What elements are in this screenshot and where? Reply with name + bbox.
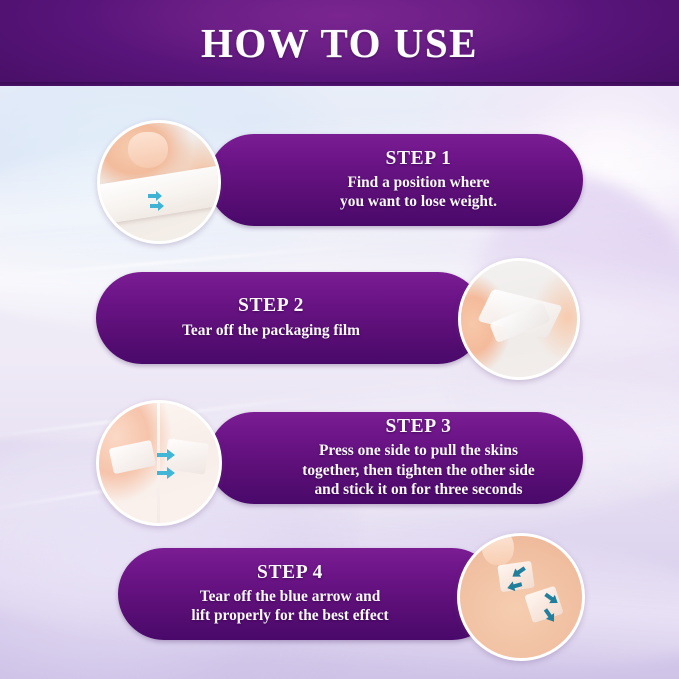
fingertip-shape xyxy=(482,533,514,565)
step-1-text-block: STEP 1 Find a position where you want to… xyxy=(268,134,569,226)
step-1-photo xyxy=(97,120,221,244)
patch-left-shape xyxy=(109,440,157,475)
step-3-title: STEP 3 xyxy=(386,417,452,437)
step-1-bar: STEP 1 Find a position where you want to… xyxy=(208,134,583,226)
step-3-bar: STEP 3 Press one side to pull the skins … xyxy=(208,412,583,504)
blue-arrow-icon xyxy=(538,592,566,626)
step-4-bar: STEP 4 Tear off the blue arrow and lift … xyxy=(118,548,498,640)
step-3-text-block: STEP 3 Press one side to pull the skins … xyxy=(266,412,571,504)
photo-fingers-holding-strip xyxy=(100,123,218,241)
photo-patches-on-skin xyxy=(460,536,582,658)
blue-arrow-icon xyxy=(146,189,168,213)
step-3-description: Press one side to pull the skins togethe… xyxy=(302,441,535,499)
how-to-use-poster: HOW TO USE STEP 1 Find a position where … xyxy=(0,0,679,679)
photo-pressing-patch-on-skin xyxy=(99,403,219,523)
step-2-bar: STEP 2 Tear off the packaging film xyxy=(96,272,484,364)
photo-peeling-film xyxy=(461,261,577,377)
step-4-photo xyxy=(457,533,585,661)
fingernail-shape xyxy=(128,132,168,167)
step-4-text-block: STEP 4 Tear off the blue arrow and lift … xyxy=(132,548,448,640)
blue-arrow-icon xyxy=(504,566,534,594)
step-3-photo xyxy=(96,400,222,526)
step-2-photo xyxy=(458,258,580,380)
step-1-title: STEP 1 xyxy=(386,149,452,169)
step-2-description: Tear off the packaging film xyxy=(182,321,360,340)
step-2-title: STEP 2 xyxy=(238,296,304,316)
page-title: HOW TO USE xyxy=(0,19,679,67)
step-1-description: Find a position where you want to lose w… xyxy=(340,173,497,212)
step-2-text-block: STEP 2 Tear off the packaging film xyxy=(110,272,432,364)
step-4-description: Tear off the blue arrow and lift properl… xyxy=(191,587,388,626)
step-4-title: STEP 4 xyxy=(257,563,323,583)
poster-header: HOW TO USE xyxy=(0,0,679,86)
blue-arrow-icon xyxy=(155,447,179,481)
